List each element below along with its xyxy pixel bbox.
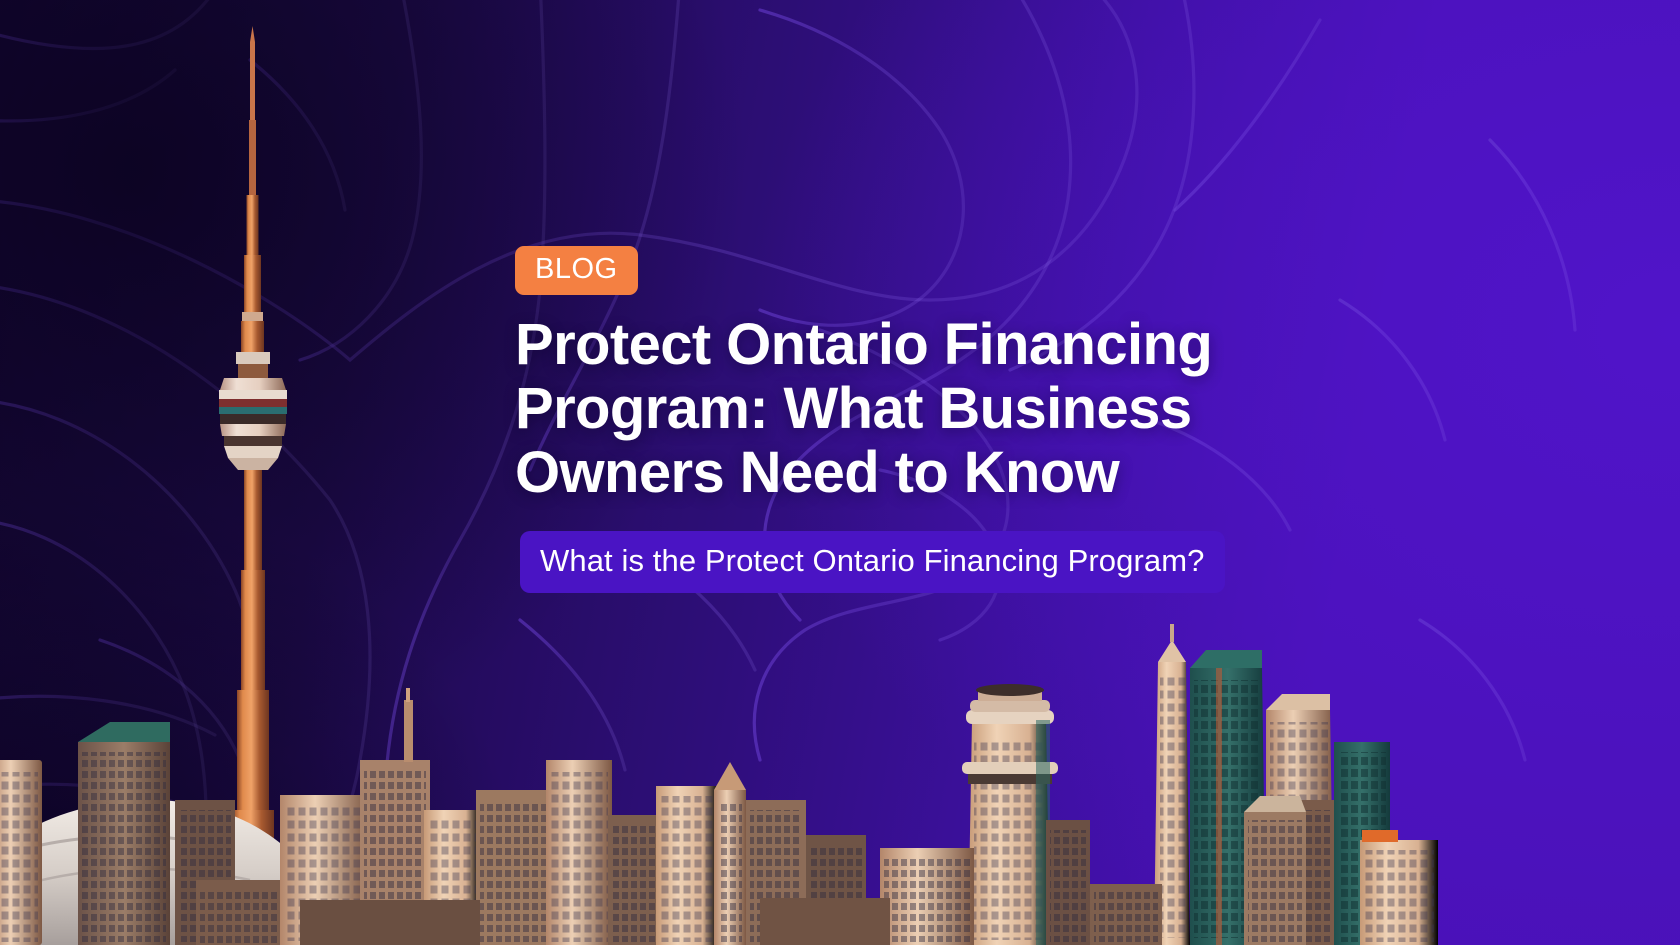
subtitle-container: What is the Protect Ontario Financing Pr… — [520, 531, 1680, 593]
hero-content: BLOG Protect Ontario Financing Program: … — [515, 246, 1680, 593]
blog-badge: BLOG — [515, 246, 638, 295]
subtitle-highlight: What is the Protect Ontario Financing Pr… — [520, 531, 1225, 593]
hero-banner: BLOG Protect Ontario Financing Program: … — [0, 0, 1680, 945]
page-title: Protect Ontario Financing Program: What … — [515, 313, 1355, 505]
